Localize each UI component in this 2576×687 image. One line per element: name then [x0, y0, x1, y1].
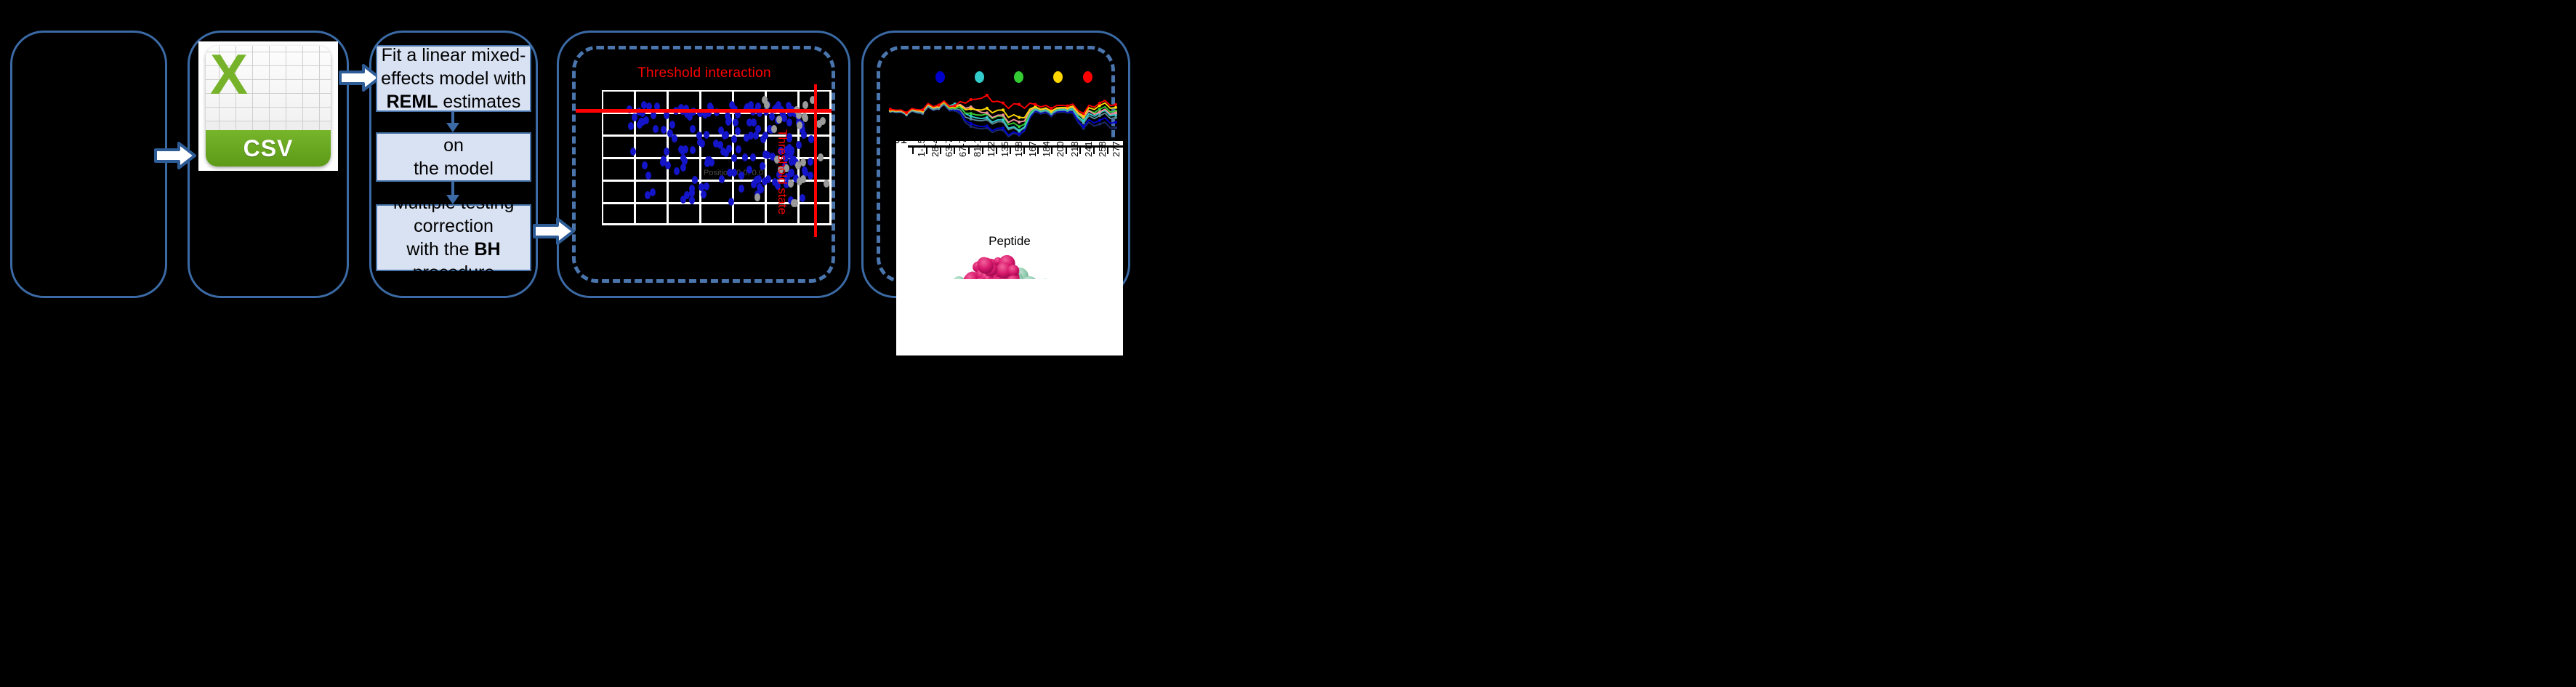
peptide-data-point — [986, 111, 989, 114]
peptide-data-point — [1114, 103, 1117, 106]
scatter-point — [760, 162, 765, 170]
scatter-point — [820, 117, 826, 125]
wald-line1-post: on — [443, 135, 464, 156]
scatter-point — [797, 121, 802, 129]
fit-model-line2: effects model with — [381, 68, 526, 89]
bh-line2: correction — [414, 216, 494, 236]
peptide-data-point — [1002, 108, 1005, 111]
scatter-point — [690, 146, 696, 154]
threshold-interaction-title: Threshold interaction — [574, 65, 834, 81]
peptide-data-point — [1002, 126, 1005, 129]
scatter-point — [757, 183, 762, 191]
legend-dot — [975, 71, 984, 83]
surface-blob — [978, 257, 994, 273]
scatter-point — [630, 148, 636, 156]
scatter-point — [824, 180, 829, 188]
fit-model-box[interactable]: Fit a linear mixed- effects model with R… — [376, 45, 531, 112]
peptide-data-point — [1098, 123, 1101, 126]
scatter-point — [755, 125, 761, 133]
fit-model-text: Fit a linear mixed- effects model with R… — [378, 44, 529, 113]
peptide-data-point — [1018, 125, 1021, 128]
peptide-data-point — [1082, 112, 1085, 115]
scatter-point — [661, 126, 667, 134]
peptide-data-point — [986, 124, 989, 127]
x-axis-tick — [940, 145, 941, 154]
legend-dot — [935, 71, 945, 83]
scatter-point — [762, 132, 768, 140]
peptide-data-point — [970, 98, 973, 101]
wald-tests-box[interactable]: Apply Wald tests on the model parameters — [376, 132, 531, 182]
scatter-point — [723, 131, 729, 139]
scatter-point — [650, 188, 656, 196]
scatter-point — [733, 118, 738, 126]
x-axis-label: Peptide — [896, 234, 1123, 249]
peptide-legend — [935, 71, 1092, 83]
x-axis-tick — [968, 145, 970, 154]
peptide-data-point — [1098, 118, 1101, 121]
x-axis-tick-label: 167-180 — [1027, 141, 1038, 157]
bh-term: BH — [475, 239, 501, 260]
x-axis-tick-label: 1-15 — [916, 141, 927, 157]
scatter-point — [786, 118, 792, 126]
scatter-point — [696, 132, 702, 140]
scatter-point — [808, 172, 813, 180]
x-axis-tick-label: 277-284 — [1111, 141, 1122, 157]
scatter-point — [789, 146, 794, 154]
scatter-point — [746, 166, 752, 174]
peptide-data-point — [937, 104, 940, 107]
peptide-axis-panel: 0.01 1-1528-4463-7367-7581-101122-129135… — [896, 141, 1123, 279]
peptide-data-point — [1082, 125, 1085, 128]
x-axis-tick — [912, 145, 914, 154]
scatter-point — [643, 116, 649, 124]
threshold-state-line — [814, 84, 817, 237]
peptide-data-point — [1018, 116, 1021, 118]
scatter-point — [762, 177, 768, 185]
scatter-point — [731, 135, 737, 143]
scatter-point — [744, 134, 749, 142]
peptide-data-point — [986, 107, 989, 110]
peptide-data-point — [970, 108, 973, 111]
peptide-data-point — [1034, 103, 1037, 106]
peptide-data-point — [970, 115, 973, 118]
scatter-point — [699, 140, 705, 148]
scatter-point — [705, 156, 711, 164]
peptide-data-point — [986, 94, 989, 97]
x-axis-tick-label: 258-266 — [1097, 141, 1108, 157]
scatter-point — [792, 199, 798, 207]
fit-model-line3-rest: estimates — [438, 92, 520, 112]
scatter-point — [672, 134, 677, 142]
scatter-point — [727, 169, 733, 177]
legend-dot — [1053, 71, 1063, 83]
scatter-point — [689, 196, 695, 204]
scatter-point — [704, 182, 709, 190]
scatter-point — [719, 175, 725, 183]
scatter-point — [729, 101, 735, 109]
peptide-panel-backdrop — [896, 279, 1123, 355]
arrow-data-to-csv-icon — [154, 142, 196, 169]
scatter-point — [645, 191, 651, 199]
protein-structure-image — [914, 250, 1095, 279]
scatter-point — [704, 131, 709, 139]
peptide-figure: 0.01 1-1528-4463-7367-7581-101122-129135… — [876, 61, 1123, 279]
peptide-data-point — [1098, 111, 1101, 113]
connector-reml-to-wald — [451, 112, 454, 124]
peptide-data-point — [1002, 113, 1005, 116]
x-axis-tick-label: 135-144 — [999, 141, 1010, 157]
x-axis-tick — [1093, 145, 1095, 154]
peptide-data-point — [970, 112, 973, 115]
x-axis-tick-label: 122-129 — [986, 141, 997, 157]
threshold-interaction-line — [576, 109, 832, 113]
peptide-data-point — [970, 125, 973, 128]
scatter-point — [645, 172, 651, 180]
peptide-data-point — [1098, 102, 1101, 105]
x-axis-tick-label: 158-166 — [1013, 141, 1024, 157]
x-axis-tick-label: 241-257 — [1083, 141, 1094, 157]
x-axis-tick-label: 63-73 — [943, 141, 954, 157]
scatter-point — [754, 193, 760, 201]
bh-line3-pre: with the — [406, 239, 474, 260]
peptide-data-point — [1050, 110, 1052, 113]
scatter-point — [776, 116, 782, 124]
peptide-data-point — [1098, 114, 1101, 117]
scatter-point — [665, 161, 671, 169]
scatter-point — [689, 189, 695, 197]
scatter-point — [674, 167, 680, 175]
scatter-point — [723, 149, 729, 157]
scatter-point — [713, 140, 719, 148]
x-axis-tick — [1066, 145, 1067, 154]
scatter-point — [735, 127, 741, 135]
scatter-point — [728, 198, 734, 206]
x-axis-tick — [1051, 145, 1052, 154]
x-axis-tick-label: 200-214 — [1055, 141, 1066, 157]
x-axis-tick — [1079, 145, 1081, 154]
scatter-point — [738, 172, 744, 180]
scatter-point — [690, 125, 696, 133]
peptide-data-point — [1018, 121, 1021, 124]
arrow-model-to-results-icon — [533, 217, 575, 245]
legend-dot — [1014, 71, 1023, 83]
scatter-point — [699, 183, 704, 191]
excel-x-glyph: X — [210, 49, 261, 100]
scatter-point — [800, 158, 806, 166]
peptide-data-point — [905, 111, 908, 114]
scatter-point — [701, 190, 707, 198]
csv-badge: X CSV — [206, 46, 331, 166]
peptide-data-point — [1114, 121, 1117, 124]
peptide-data-point — [1098, 108, 1101, 111]
scatter-point — [762, 96, 768, 104]
y-axis-tick-label: 0.01 — [896, 141, 907, 147]
fit-model-reml-term: REML — [387, 92, 438, 112]
scatter-point — [683, 145, 688, 153]
scatter-point — [802, 113, 808, 121]
peptide-data-point — [1114, 116, 1117, 119]
scatter-point — [680, 196, 686, 204]
multiple-testing-text: Multiple testing correction with the BH … — [377, 191, 530, 284]
scatter-point — [692, 176, 698, 184]
scatter-point — [746, 118, 752, 126]
peptide-data-point — [954, 104, 957, 107]
x-axis-tick-label: 28-44 — [930, 141, 941, 157]
multiple-testing-box[interactable]: Multiple testing correction with the BH … — [376, 204, 531, 271]
peptide-data-point — [1018, 103, 1021, 106]
scatter-point — [808, 158, 813, 166]
scatter-point — [682, 157, 688, 165]
peptide-data-point — [921, 108, 924, 111]
scatter-point — [769, 113, 775, 121]
threshold-state-label: Threshold state — [775, 129, 789, 214]
peptide-data-point — [1002, 102, 1005, 105]
x-axis-tick — [1023, 145, 1025, 154]
scatter-point — [802, 101, 808, 109]
x-axis-tick — [1107, 145, 1108, 154]
connector-wald-to-bh — [451, 182, 454, 196]
x-axis-tick-label: 218-237 — [1069, 141, 1080, 157]
peptide-data-point — [1018, 133, 1021, 136]
peptide-data-point — [1114, 126, 1117, 129]
scatter-point — [750, 153, 756, 161]
scatter-plot-area: Position: 0.0, 0.0 — [602, 90, 832, 225]
scatter-point — [637, 121, 643, 129]
peptide-data-point — [1114, 111, 1117, 114]
peptide-data-point — [1114, 106, 1117, 109]
scatter-point — [628, 122, 634, 130]
wald-line1-pre: Apply — [383, 112, 433, 132]
peptide-data-point — [1018, 129, 1021, 132]
scatter-point — [725, 112, 730, 120]
bh-line3-post: procedure — [413, 262, 495, 283]
x-axis-tick — [982, 145, 983, 154]
x-axis-tick-label: 81-101 — [972, 141, 983, 157]
peptide-data-point — [1066, 105, 1069, 108]
data-collection-panel — [10, 31, 167, 298]
scatter-point — [738, 185, 744, 193]
scatter-point — [664, 148, 669, 156]
surface-blob — [1007, 265, 1020, 277]
scatter-point — [800, 194, 805, 202]
scatter-point — [796, 141, 802, 149]
x-axis-tick-label: 184-199 — [1041, 141, 1052, 157]
scatter-point — [797, 177, 802, 185]
x-axis-tick — [954, 145, 955, 154]
scatter-point — [669, 121, 675, 129]
scatter-point — [808, 135, 814, 143]
scatter-point — [818, 153, 824, 161]
scatter-point — [795, 161, 801, 169]
x-axis-tick-label: 67-75 — [957, 141, 968, 157]
peptide-data-point — [1082, 120, 1085, 123]
peptide-line-chart — [887, 89, 1119, 141]
peptide-data-point — [889, 108, 892, 111]
scatter-point — [736, 145, 741, 153]
x-axis-tick — [1037, 145, 1039, 154]
peptide-data-point — [970, 122, 973, 125]
diagram-canvas: X CSV Fit a linear mixed- effects model … — [0, 0, 2576, 687]
scatter-point — [653, 125, 659, 133]
scatter-point — [731, 154, 737, 162]
x-axis-tick — [926, 145, 927, 154]
peptide-data-point — [1050, 107, 1052, 110]
fit-model-line1: Fit a linear mixed- — [382, 45, 526, 65]
scatter-point — [756, 175, 762, 183]
scatter-point — [642, 161, 648, 169]
scatter-point — [742, 153, 748, 161]
csv-format-label: CSV — [206, 130, 331, 166]
legend-dot — [1083, 71, 1092, 83]
arrow-csv-to-model-icon — [339, 64, 381, 92]
x-axis-tick — [1010, 145, 1011, 154]
x-axis-tick — [996, 145, 997, 154]
csv-file-icon: X CSV — [198, 41, 338, 171]
threshold-scatter-figure: Threshold interaction Position: 0.0, 0.0… — [574, 65, 834, 276]
peptide-data-point — [970, 118, 973, 121]
peptide-data-point — [986, 116, 989, 119]
